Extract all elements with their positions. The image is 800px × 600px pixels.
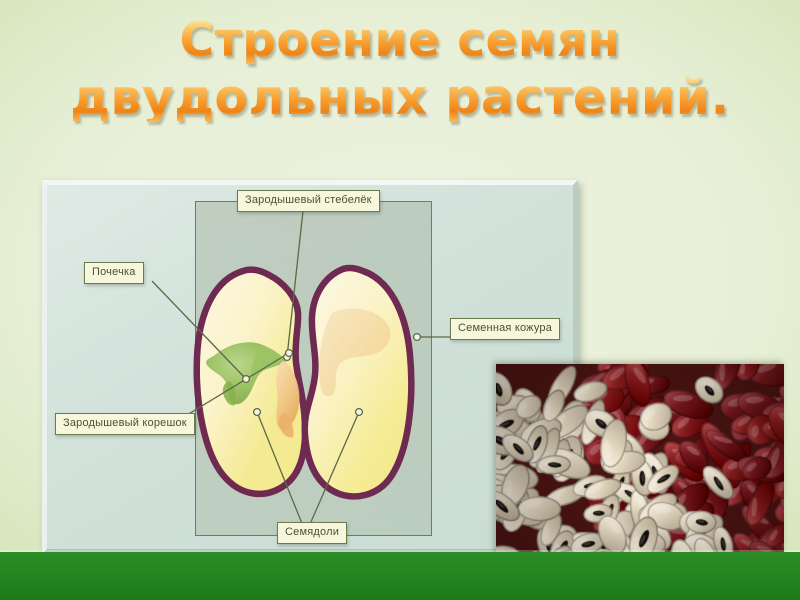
title-line-1: Строение семян — [0, 18, 800, 64]
marker-seed-coat — [414, 334, 421, 341]
marker-plumule — [243, 376, 250, 383]
page-title: Строение семян двудольных растений. — [0, 18, 800, 122]
marker-cotyledon-right — [356, 409, 363, 416]
marker-cotyledon-left — [254, 409, 261, 416]
title-line-2: двудольных растений. — [0, 74, 800, 122]
bottom-green-band — [0, 552, 800, 600]
presentation-slide: Строение семян двудольных растений. — [0, 0, 800, 600]
marker-radicle — [286, 350, 293, 357]
label-plumule[interactable]: Почечка — [84, 262, 144, 284]
panel-inner-surface — [47, 185, 573, 549]
connector-cotyledon-right — [307, 412, 359, 531]
connector-cotyledon-left — [257, 412, 305, 531]
label-cotyledons[interactable]: Семядоли — [277, 522, 347, 544]
connector-embryonic-stem — [287, 211, 303, 357]
connector-plumule — [152, 281, 246, 379]
label-seed-coat[interactable]: Семенная кожура — [450, 318, 560, 340]
label-radicle[interactable]: Зародышевый корешок — [55, 413, 195, 435]
label-embryonic-stem[interactable]: Зародышевый стебелёк — [237, 190, 380, 212]
